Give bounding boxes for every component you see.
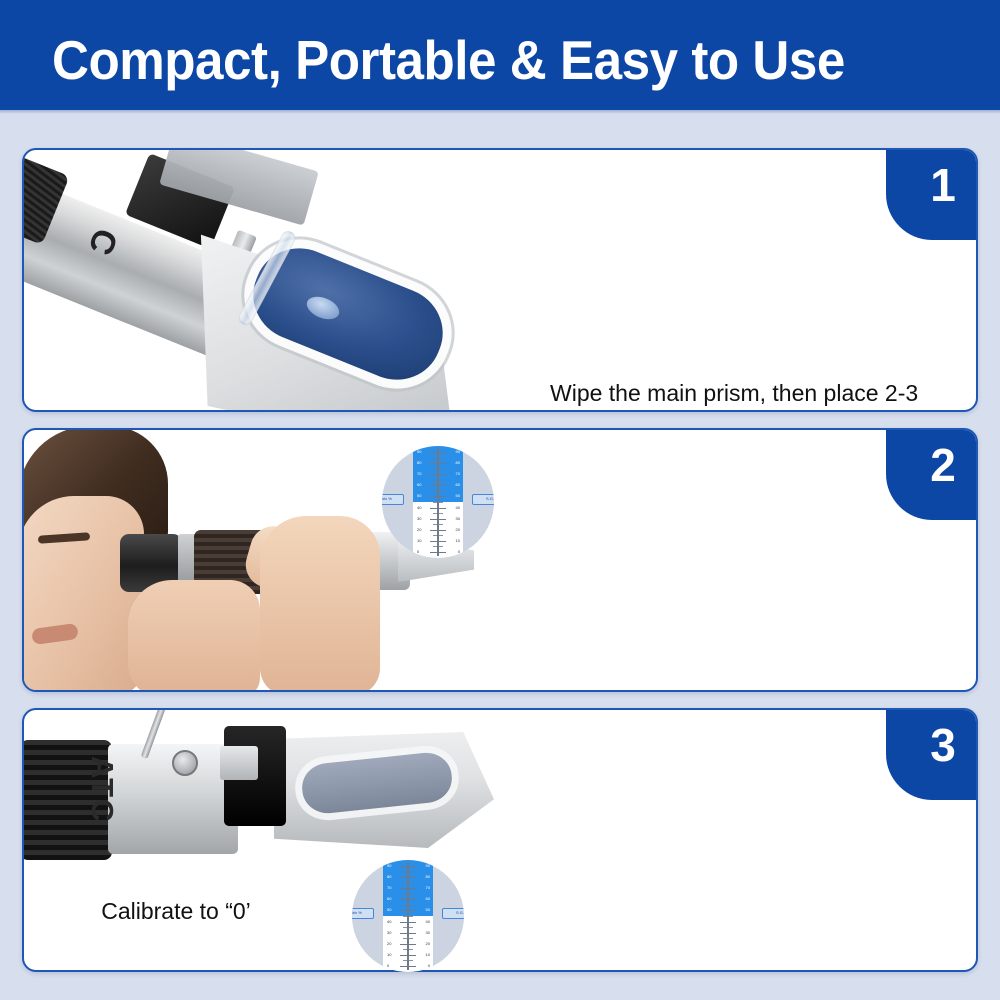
scale-tick-label-right: 90 bbox=[426, 864, 430, 868]
scale-tick bbox=[400, 944, 416, 945]
step-badge-3: 3 bbox=[886, 708, 978, 800]
scale-tick-label-left: 0 bbox=[417, 550, 419, 554]
scale-tick-label-left: 40 bbox=[417, 506, 421, 510]
scale-tick-label-left: 50 bbox=[387, 908, 391, 912]
scale-tick-label-left: 0 bbox=[387, 964, 389, 968]
scale-tick bbox=[400, 955, 416, 956]
scale-tick-label-left: 20 bbox=[387, 942, 391, 946]
calibrate-caption: Calibrate to “0’ bbox=[0, 898, 352, 925]
user-hand-right bbox=[260, 516, 380, 690]
scale-tick-label-left: 70 bbox=[387, 886, 391, 890]
header-banner: Compact, Portable & Easy to Use bbox=[0, 0, 1000, 110]
step-1-paragraph-1: Wipe the main prism, then place 2-3 drop… bbox=[550, 378, 950, 412]
scale-tick-minor bbox=[403, 949, 413, 950]
scale-tick-label-right: 30 bbox=[456, 517, 460, 521]
scale-tick bbox=[400, 966, 416, 967]
scale-tick-label-right: 20 bbox=[456, 528, 460, 532]
scale-tick-label-right: 10 bbox=[456, 539, 460, 543]
scale-tick-label-left: 10 bbox=[417, 539, 421, 543]
scale-axis bbox=[437, 448, 439, 556]
scale-tick-label-left: 20 bbox=[417, 528, 421, 532]
scale-tick-label-right: 10 bbox=[426, 953, 430, 957]
scale-tick-label-left: 90 bbox=[387, 864, 391, 868]
user-face bbox=[24, 496, 144, 690]
scale-tick-label-right: 30 bbox=[426, 931, 430, 935]
scale-tick-label-right: 0 bbox=[458, 550, 460, 554]
step-panel-3: ATC Our refractometers are factory calib… bbox=[22, 708, 978, 972]
scale-tick-minor bbox=[403, 938, 413, 939]
scale-tick-label-right: 20 bbox=[426, 942, 430, 946]
scale-tick-label-right: 50 bbox=[456, 494, 460, 498]
scale-tick-label-right: 70 bbox=[456, 472, 460, 476]
scale-tick bbox=[430, 552, 446, 553]
scale-tick-minor bbox=[433, 513, 443, 514]
scale-tick-label-left: 80 bbox=[387, 875, 391, 879]
page-title: Compact, Portable & Easy to Use bbox=[52, 33, 845, 88]
scale-tick-minor bbox=[433, 535, 443, 536]
scale-tick-label-right: 60 bbox=[456, 483, 460, 487]
scale-tick-minor bbox=[433, 524, 443, 525]
scale-tick-label-left: 30 bbox=[387, 931, 391, 935]
scale-tick-label-right: 90 bbox=[456, 450, 460, 454]
scale-label-left: Brix % bbox=[382, 494, 404, 505]
step-badge-2: 2 bbox=[886, 428, 978, 520]
scale-tick-label-left: 90 bbox=[417, 450, 421, 454]
scale-tick-label-right: 40 bbox=[456, 506, 460, 510]
refractometer-scale-view-calibration: 90908080707060605050 404030302020101000 … bbox=[352, 860, 464, 972]
atc-marking: ATC bbox=[84, 756, 120, 823]
scale-tick-minor bbox=[433, 546, 443, 547]
scale-tick bbox=[430, 519, 446, 520]
step-panel-2: Point the refractometer at any lightsour… bbox=[22, 428, 978, 692]
scale-tick-label-left: 50 bbox=[417, 494, 421, 498]
step-1-text: Wipe the main prism, then place 2-3 drop… bbox=[550, 378, 950, 412]
scale-tick bbox=[400, 922, 416, 923]
step-1-photo: C bbox=[24, 150, 524, 410]
scale-tick-label-left: 60 bbox=[417, 483, 421, 487]
step-badge-1: 1 bbox=[886, 148, 978, 240]
scale-tick-label-right: 40 bbox=[426, 920, 430, 924]
scale-label-right: S.G. bbox=[442, 908, 464, 919]
scale-tick bbox=[430, 530, 446, 531]
scale-tick-label-right: 80 bbox=[456, 461, 460, 465]
refractometer-scale-view: 90908080707060605050 404030302020101000 … bbox=[382, 446, 494, 558]
scale-label-left: Brix % bbox=[352, 908, 374, 919]
scale-tick-label-left: 80 bbox=[417, 461, 421, 465]
step-panel-1: C Wipe the main prism, then place 2-3 dr… bbox=[22, 148, 978, 412]
scale-tick-label-right: 60 bbox=[426, 897, 430, 901]
scale-tick-label-right: 70 bbox=[426, 886, 430, 890]
scale-tick bbox=[430, 541, 446, 542]
step-3-photo: ATC bbox=[24, 710, 524, 900]
scale-label-right: S.G. bbox=[472, 494, 494, 505]
user-hand-left bbox=[128, 580, 260, 690]
scale-tick-label-right: 80 bbox=[426, 875, 430, 879]
scale-strip: 90908080707060605050 404030302020101000 bbox=[383, 860, 433, 972]
scale-tick-label-left: 30 bbox=[417, 517, 421, 521]
scale-axis bbox=[407, 862, 409, 970]
scale-tick-label-left: 10 bbox=[387, 953, 391, 957]
scale-tick-label-left: 60 bbox=[387, 897, 391, 901]
scale-tick-label-left: 70 bbox=[417, 472, 421, 476]
scale-tick bbox=[400, 933, 416, 934]
prism-cover-latch bbox=[220, 746, 258, 780]
scale-tick-label-right: 0 bbox=[428, 964, 430, 968]
scale-strip: 90908080707060605050 404030302020101000 bbox=[413, 446, 463, 558]
scale-tick-label-right: 50 bbox=[426, 908, 430, 912]
scale-tick bbox=[430, 508, 446, 509]
scale-tick-label-left: 40 bbox=[387, 920, 391, 924]
header-underline bbox=[0, 110, 1000, 114]
calibration-screw bbox=[172, 750, 198, 776]
scale-tick-minor bbox=[403, 927, 413, 928]
scale-tick-minor bbox=[403, 960, 413, 961]
